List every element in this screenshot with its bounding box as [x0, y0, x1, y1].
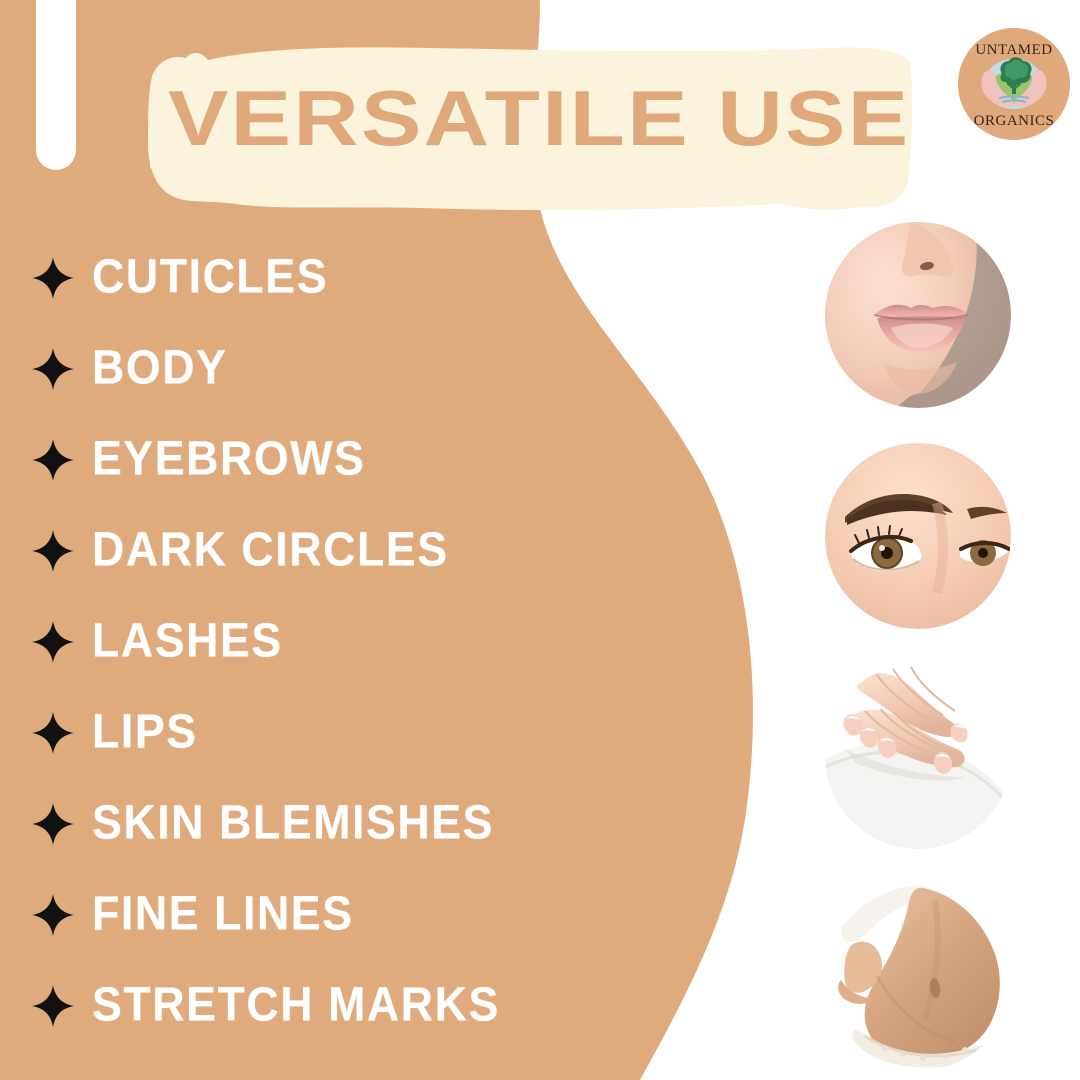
sparkle-star-icon: [30, 801, 76, 847]
sparkle-star-icon: [30, 710, 76, 756]
list-item-label: LIPS: [92, 708, 198, 756]
photo-hands-graphic: [825, 663, 1011, 849]
list-item-label: CUTICLES: [92, 253, 328, 301]
sparkle-star-icon: [30, 528, 76, 574]
list-item-label: BODY: [92, 344, 227, 392]
list-item-label: EYEBROWS: [92, 435, 365, 483]
sparkle-star-icon: [30, 346, 76, 392]
sparkle-star-icon: [30, 892, 76, 938]
list-item: CUTICLES: [30, 232, 550, 323]
brand-logo: UNTAMED ORGANICS: [958, 28, 1070, 140]
list-item: BODY: [30, 323, 550, 414]
list-item: DARK CIRCLES: [30, 505, 550, 596]
sparkle-star-icon: [30, 437, 76, 483]
svg-text:ORGANICS: ORGANICS: [974, 113, 1055, 129]
photo-lips-closeup: [825, 222, 1011, 408]
list-item-label: STRETCH MARKS: [92, 981, 500, 1029]
photo-torso-belly: [825, 880, 1015, 1070]
benefits-list: CUTICLES BODY EYEBROWS DARK CIRCLES LASH: [30, 232, 550, 1051]
poster-canvas: VERSATILE USE UNTAMED ORGANICS: [0, 0, 1080, 1080]
photo-lips-graphic: [825, 222, 1011, 408]
photo-eyebrow-graphic: [825, 443, 1011, 629]
sparkle-star-icon: [30, 255, 76, 301]
list-item: LIPS: [30, 687, 550, 778]
sparkle-star-icon: [30, 619, 76, 665]
list-item: SKIN BLEMISHES: [30, 778, 550, 869]
white-rounded-accent-bar: [36, 0, 76, 170]
photo-hands-nails: [825, 663, 1011, 849]
list-item-label: SKIN BLEMISHES: [92, 799, 494, 847]
list-item-label: DARK CIRCLES: [92, 526, 449, 574]
list-item: EYEBROWS: [30, 414, 550, 505]
photo-torso-graphic: [825, 880, 1015, 1070]
page-title-text: VERSATILE USE: [168, 79, 910, 157]
sparkle-star-icon: [30, 983, 76, 1029]
list-item: LASHES: [30, 596, 550, 687]
list-item: STRETCH MARKS: [30, 960, 550, 1051]
page-title: VERSATILE USE: [168, 72, 888, 164]
svg-text:UNTAMED: UNTAMED: [975, 42, 1052, 58]
brand-logo-graphic: UNTAMED ORGANICS: [958, 28, 1070, 140]
photo-eyebrow-closeup: [825, 443, 1011, 629]
list-item: FINE LINES: [30, 869, 550, 960]
list-item-label: LASHES: [92, 617, 283, 665]
list-item-label: FINE LINES: [92, 890, 354, 938]
